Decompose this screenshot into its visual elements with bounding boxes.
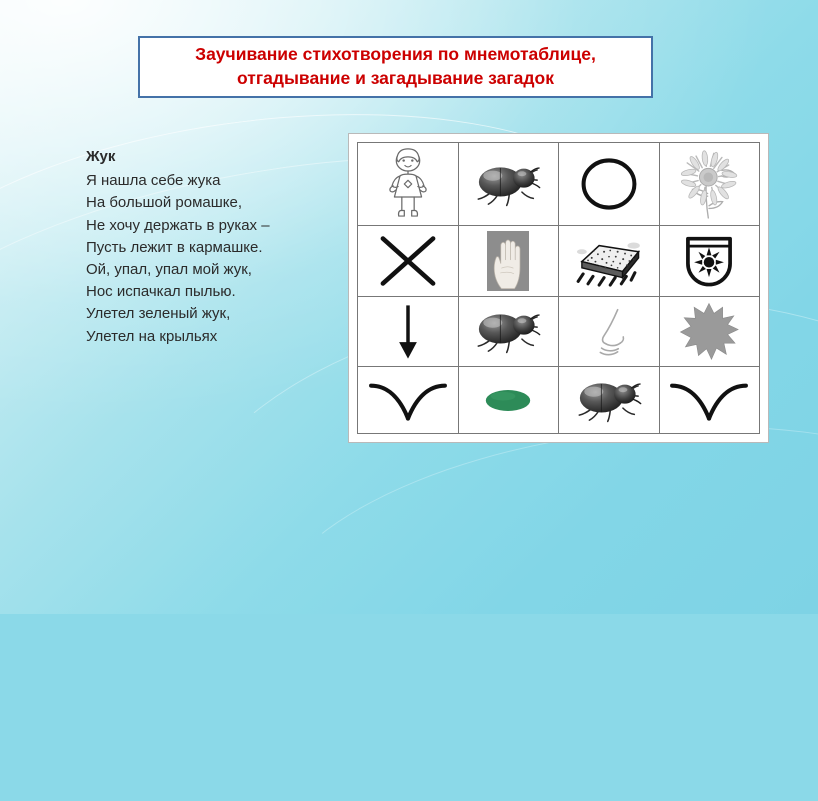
poem-line: Нос испачкал пылью. xyxy=(86,281,336,303)
mnemonic-grid xyxy=(357,142,760,434)
pocket-sun-icon xyxy=(678,230,740,292)
beetle-icon xyxy=(571,375,647,426)
cross-x-icon xyxy=(358,226,458,296)
mattress-bed-icon xyxy=(572,233,646,289)
arrow-down-icon xyxy=(389,300,427,364)
poem-line: Ой, упал, упал мой жук, xyxy=(86,259,336,281)
mnemonic-cell xyxy=(659,143,760,226)
mnemonic-cell xyxy=(559,297,660,367)
green-oval-icon xyxy=(459,367,559,433)
mnemonic-cell xyxy=(458,143,559,226)
hand-icon xyxy=(459,226,559,296)
title-box: Заучивание стихотворения по мнемотаблице… xyxy=(138,36,653,98)
mnemonic-cell xyxy=(659,297,760,367)
wings-curve-icon xyxy=(668,376,750,424)
dust-burst-icon xyxy=(678,301,740,363)
poem-heading: Жук xyxy=(86,146,336,168)
beetle-icon xyxy=(470,306,546,357)
page-title: Заучивание стихотворения по мнемотаблице… xyxy=(185,43,606,90)
poem-line: Пусть лежит в кармашке. xyxy=(86,237,336,259)
hand-icon xyxy=(487,231,529,291)
mnemonic-cell xyxy=(458,297,559,367)
mnemonic-cell xyxy=(358,297,459,367)
poem-line: На большой ромашке, xyxy=(86,192,336,214)
arrow-down-icon xyxy=(358,297,458,366)
nose-icon xyxy=(578,301,640,363)
mnemonic-row xyxy=(358,367,760,434)
mnemonic-cell xyxy=(659,367,760,434)
mnemonic-row xyxy=(358,297,760,367)
dust-burst-icon xyxy=(660,297,760,366)
girl-figure-icon xyxy=(377,147,439,221)
title-line-2: отгадывание и загадывание загадок xyxy=(237,68,554,88)
poem-line: Улетел зеленый жук, xyxy=(86,303,336,325)
mnemonic-cell xyxy=(659,226,760,297)
daisy-flower-icon xyxy=(675,143,743,225)
daisy-flower-icon xyxy=(660,143,760,225)
wings-curve-icon xyxy=(367,376,449,424)
cross-x-icon xyxy=(375,228,441,294)
mnemonic-cell xyxy=(458,226,559,297)
beetle-icon xyxy=(459,143,559,225)
nose-icon xyxy=(559,297,659,366)
mnemonic-cell xyxy=(559,226,660,297)
mnemonic-table xyxy=(348,133,769,443)
mnemonic-cell xyxy=(358,226,459,297)
title-line-1: Заучивание стихотворения по мнемотаблице… xyxy=(195,44,596,64)
beetle-icon xyxy=(470,159,546,210)
mnemonic-cell xyxy=(358,143,459,226)
poem-line: Я нашла себе жука xyxy=(86,170,336,192)
mnemonic-cell xyxy=(559,367,660,434)
girl-figure-icon xyxy=(358,143,458,225)
beetle-icon xyxy=(459,297,559,366)
mnemonic-cell xyxy=(559,143,660,226)
wings-curve-icon xyxy=(358,367,458,433)
circle-outline-icon xyxy=(578,153,640,215)
mnemonic-row xyxy=(358,226,760,297)
pocket-sun-icon xyxy=(660,226,760,296)
circle-outline-icon xyxy=(559,143,659,225)
poem-block: Жук Я нашла себе жука На большой ромашке… xyxy=(86,146,336,348)
mnemonic-cell xyxy=(358,367,459,434)
poem-line: Не хочу держать в руках – xyxy=(86,215,336,237)
mattress-bed-icon xyxy=(559,226,659,296)
green-oval-icon xyxy=(477,382,539,419)
mnemonic-cell xyxy=(458,367,559,434)
mnemonic-row xyxy=(358,143,760,226)
beetle-icon xyxy=(559,367,659,433)
wings-curve-icon xyxy=(660,367,760,433)
poem-line: Улетел на крыльях xyxy=(86,326,336,348)
